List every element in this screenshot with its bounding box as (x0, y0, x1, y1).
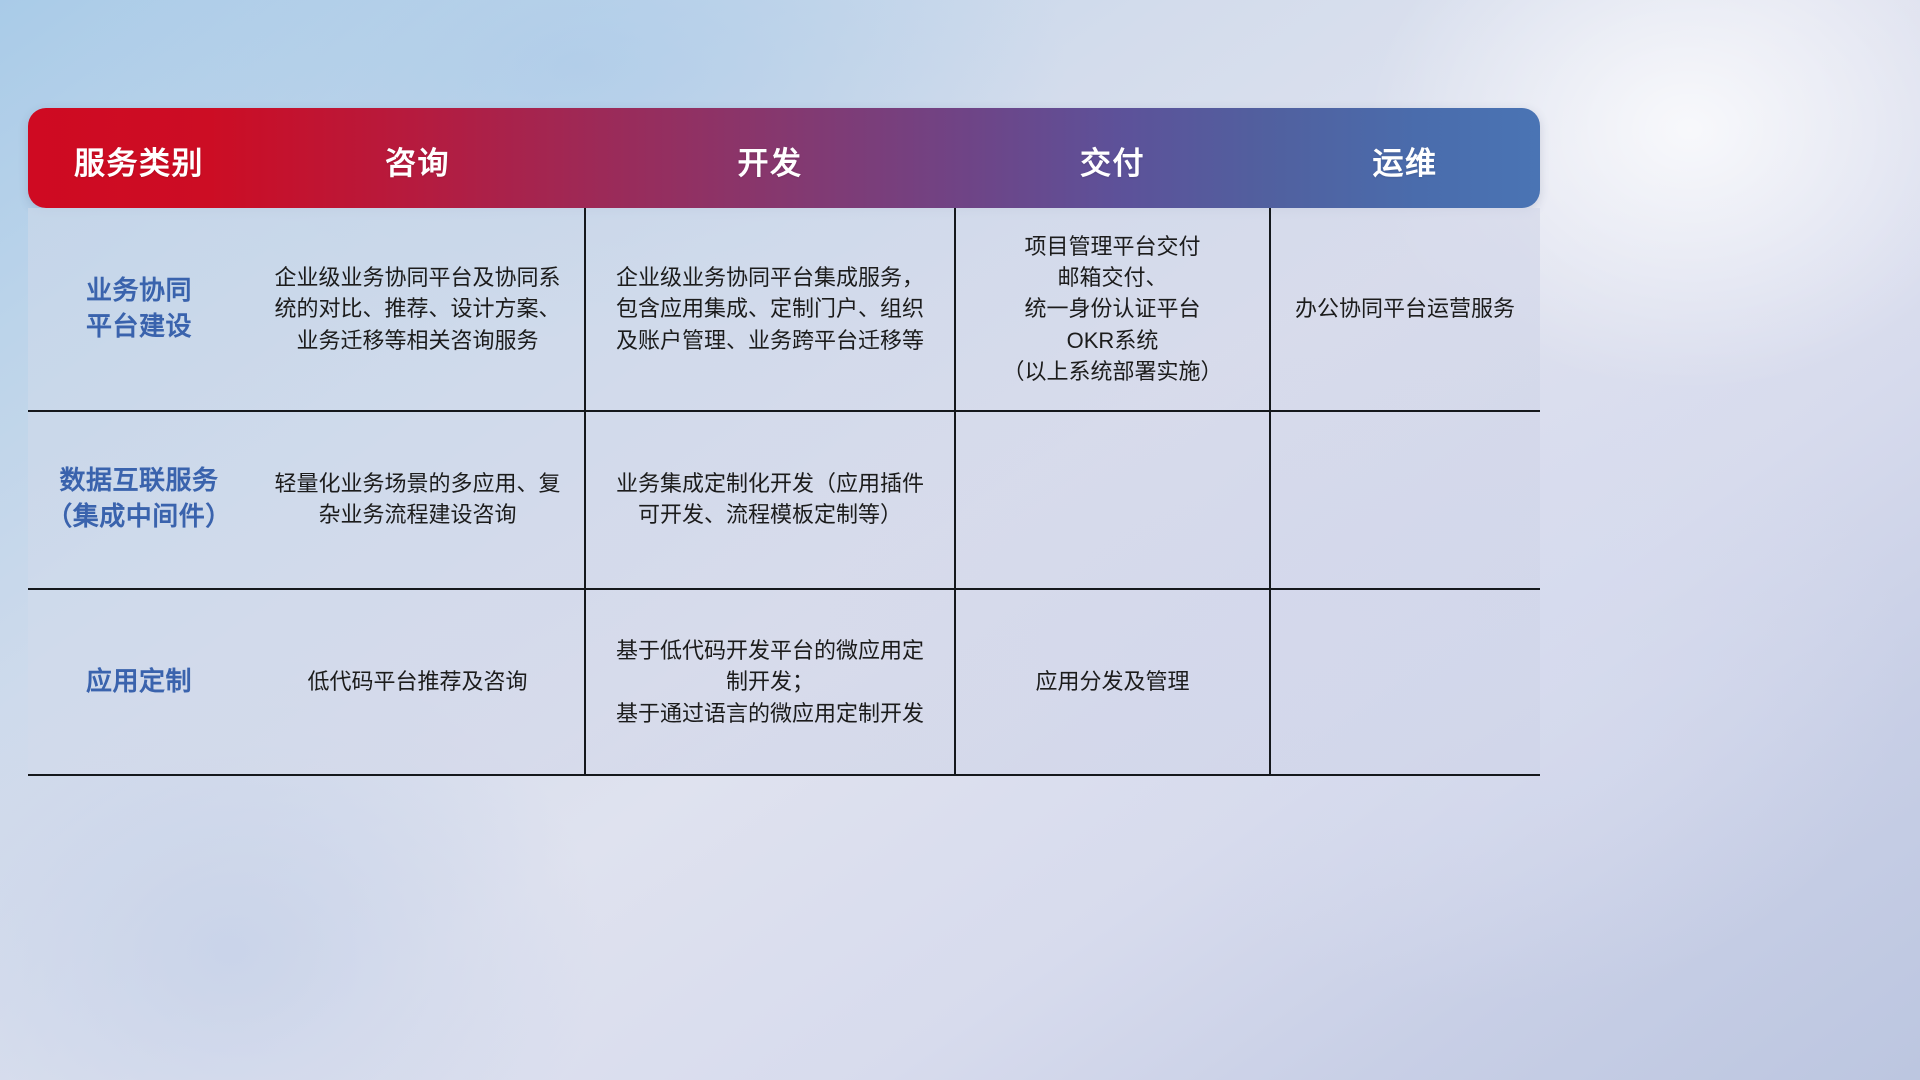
table-row: 业务协同 平台建设 企业级业务协同平台及协同系 统的对比、推荐、设计方案、 业务… (28, 208, 1540, 410)
cell-r2-operate (1270, 410, 1540, 588)
column-header-develop: 开发 (585, 108, 955, 208)
table-header-row: 服务类别 咨询 开发 交付 运维 (28, 108, 1540, 208)
row-label-data-interconnect: 数据互联服务 （集成中间件） (28, 410, 250, 588)
cell-r1-deliver: 项目管理平台交付 邮箱交付、 统一身份认证平台 OKR系统 （以上系统部署实施） (955, 208, 1270, 410)
cell-r2-develop: 业务集成定制化开发（应用插件 可开发、流程模板定制等） (585, 410, 955, 588)
cell-r1-develop: 企业级业务协同平台集成服务， 包含应用集成、定制门户、组织 及账户管理、业务跨平… (585, 208, 955, 410)
column-header-deliver: 交付 (955, 108, 1270, 208)
cell-r3-operate (1270, 588, 1540, 776)
table-row: 应用定制 低代码平台推荐及咨询 基于低代码开发平台的微应用定 制开发； 基于通过… (28, 588, 1540, 776)
table-body: 业务协同 平台建设 企业级业务协同平台及协同系 统的对比、推荐、设计方案、 业务… (28, 208, 1540, 776)
row-divider-2 (28, 588, 1540, 590)
table-row: 数据互联服务 （集成中间件） 轻量化业务场景的多应用、复 杂业务流程建设咨询 业… (28, 410, 1540, 588)
cell-r3-consult: 低代码平台推荐及咨询 (250, 588, 585, 776)
cell-r1-consult: 企业级业务协同平台及协同系 统的对比、推荐、设计方案、 业务迁移等相关咨询服务 (250, 208, 585, 410)
column-divider-deliver-operate (1269, 208, 1271, 776)
row-label-business-collaboration: 业务协同 平台建设 (28, 208, 250, 410)
row-divider-1 (28, 410, 1540, 412)
row-divider-bottom (28, 774, 1540, 776)
slide-background: 服务类别 咨询 开发 交付 运维 业务协同 平台建设 企业级业务协同平台及协同系… (0, 0, 1920, 1080)
column-divider-consult-develop (584, 208, 586, 776)
service-matrix-table: 服务类别 咨询 开发 交付 运维 业务协同 平台建设 企业级业务协同平台及协同系… (28, 108, 1540, 776)
cell-r2-consult: 轻量化业务场景的多应用、复 杂业务流程建设咨询 (250, 410, 585, 588)
cell-r3-deliver: 应用分发及管理 (955, 588, 1270, 776)
column-header-category: 服务类别 (28, 108, 250, 208)
column-header-operate: 运维 (1270, 108, 1540, 208)
row-label-app-customization: 应用定制 (28, 588, 250, 776)
cell-r2-deliver (955, 410, 1270, 588)
cell-r1-operate: 办公协同平台运营服务 (1270, 208, 1540, 410)
cell-r3-develop: 基于低代码开发平台的微应用定 制开发； 基于通过语言的微应用定制开发 (585, 588, 955, 776)
column-divider-develop-deliver (954, 208, 956, 776)
column-header-consult: 咨询 (250, 108, 585, 208)
